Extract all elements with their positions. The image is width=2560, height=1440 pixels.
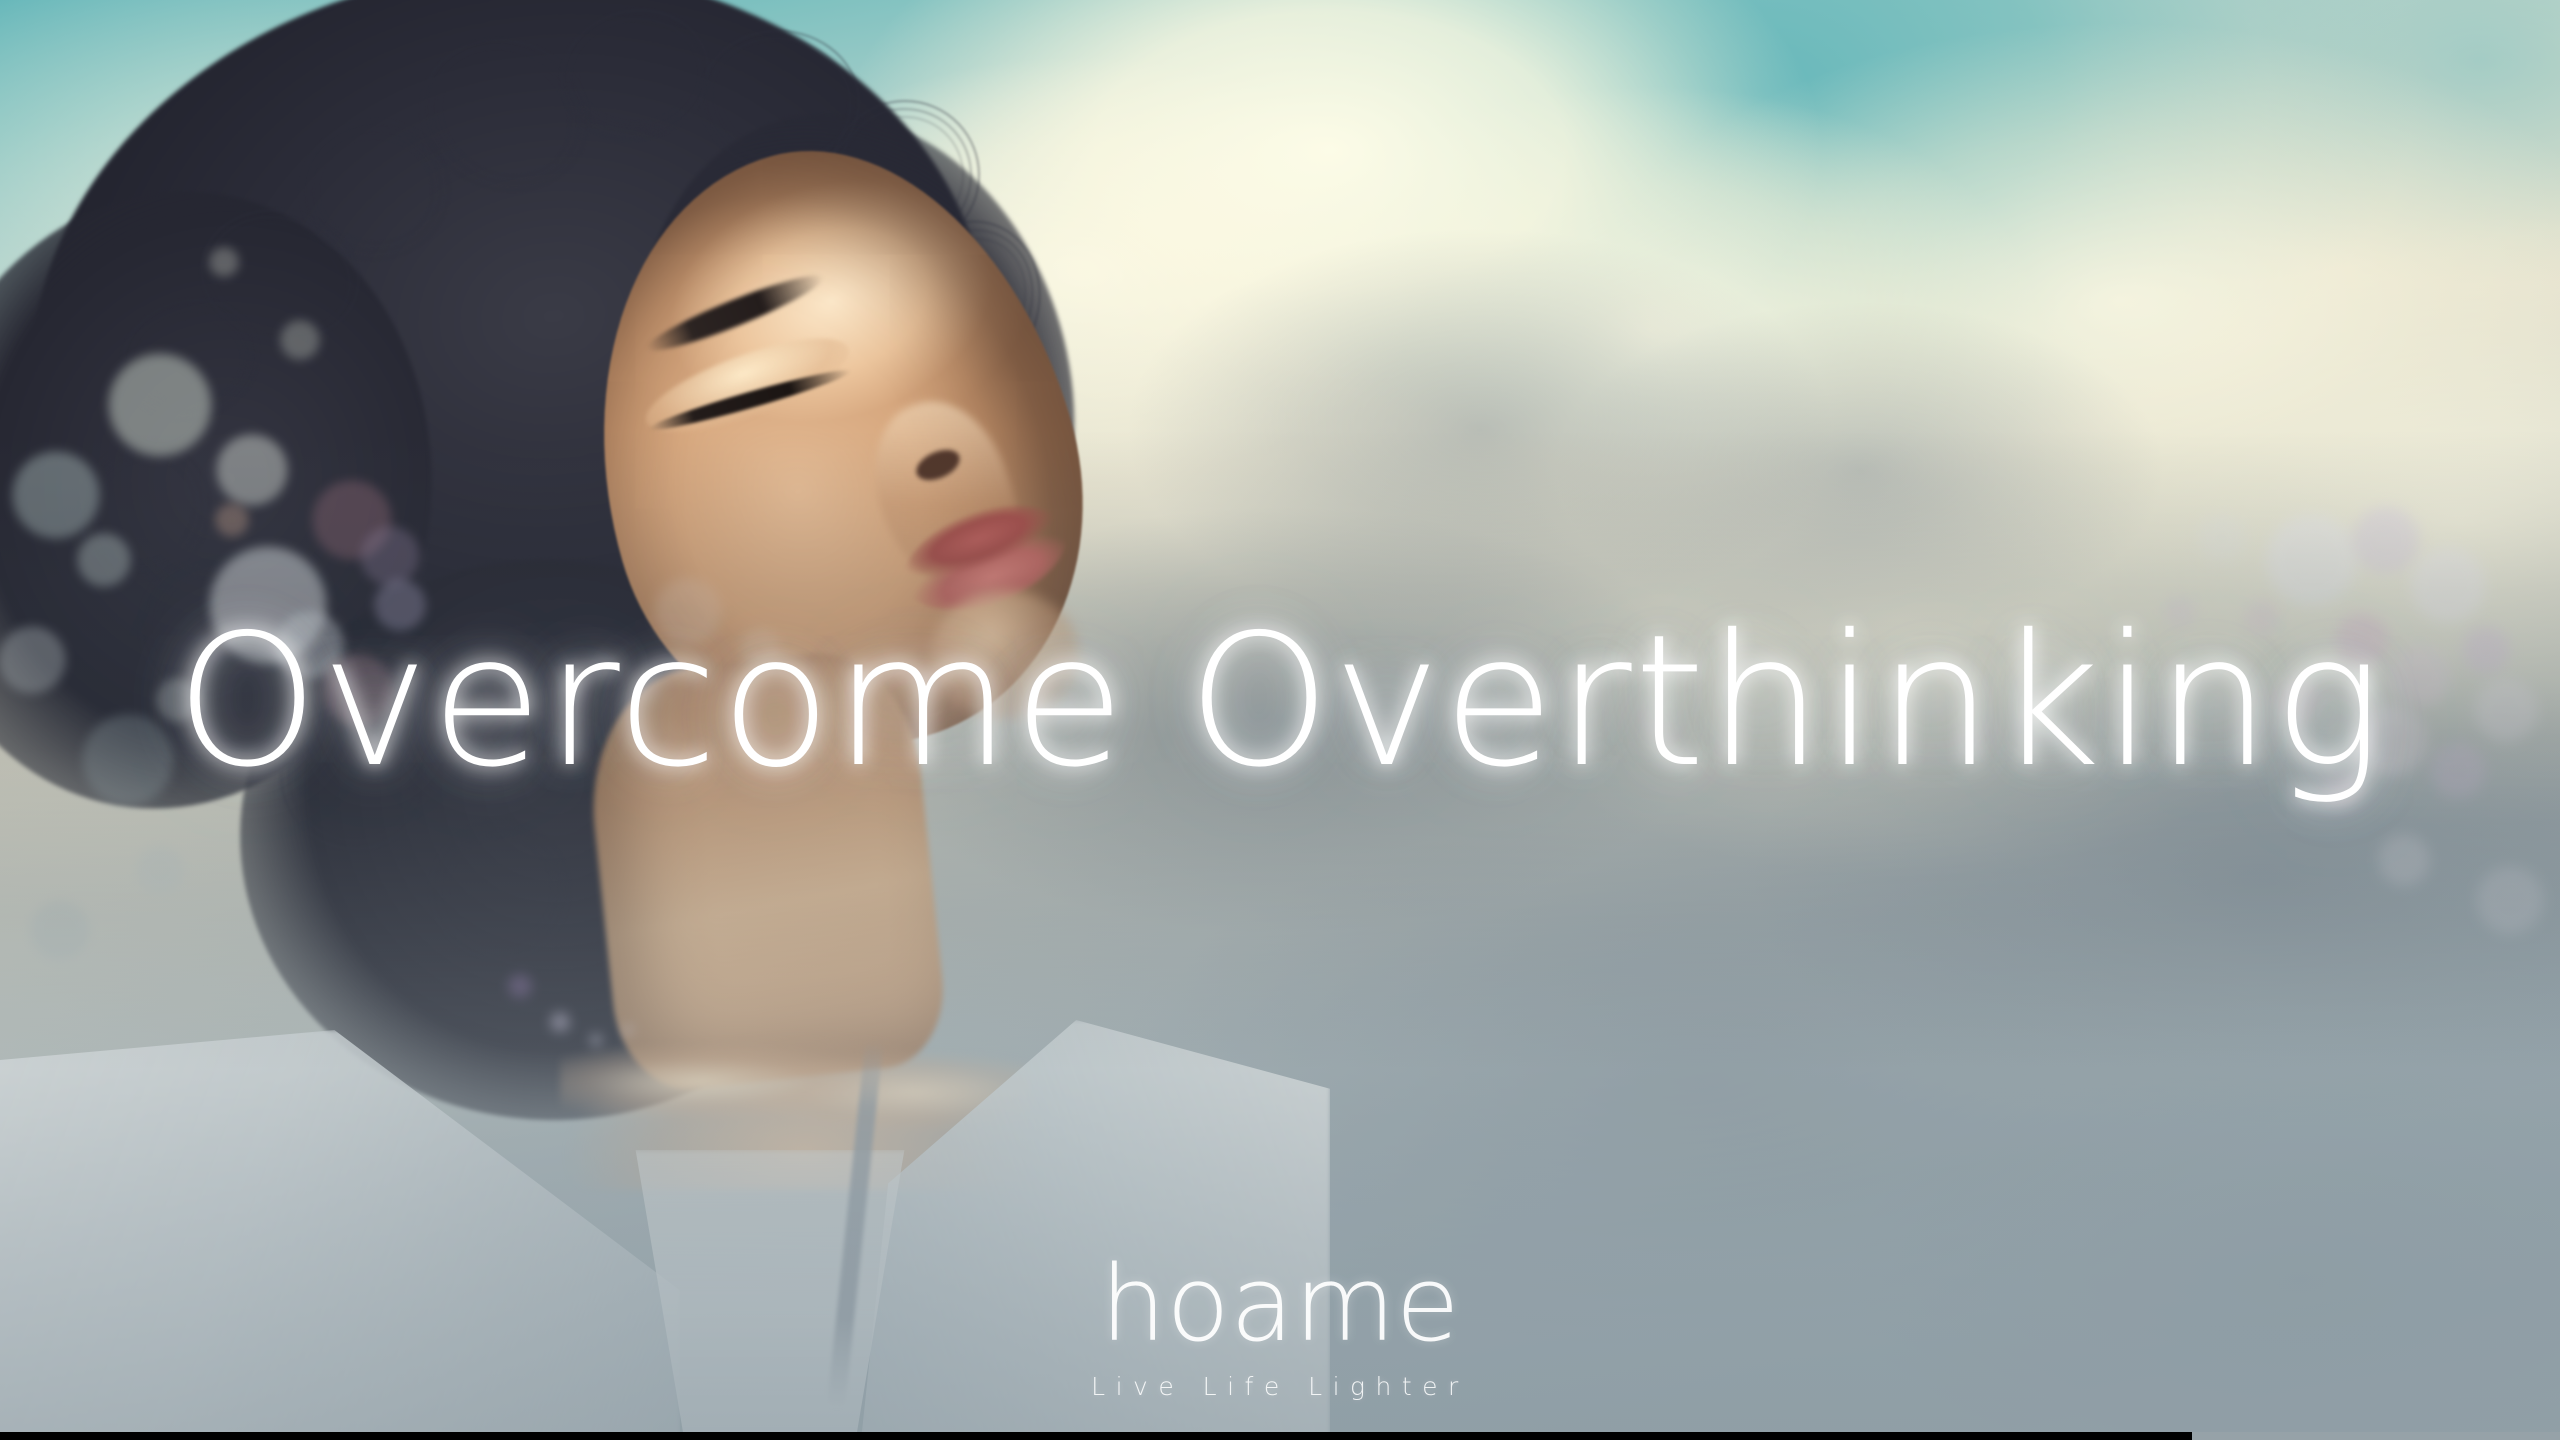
brand-wordmark: hoame	[0, 1252, 2560, 1356]
brand-logo: hoame Live Life Lighter	[0, 1252, 2560, 1401]
page-title: Overcome Overthinking	[0, 610, 2560, 792]
hero-slide: Overcome Overthinking hoame Live Life Li…	[0, 0, 2560, 1440]
brand-tagline: Live Life Lighter	[0, 1372, 2560, 1401]
bottom-letterbox-remainder	[2192, 1432, 2560, 1440]
bottom-letterbox-bar	[0, 1432, 2192, 1440]
hair-strand	[576, 26, 694, 124]
